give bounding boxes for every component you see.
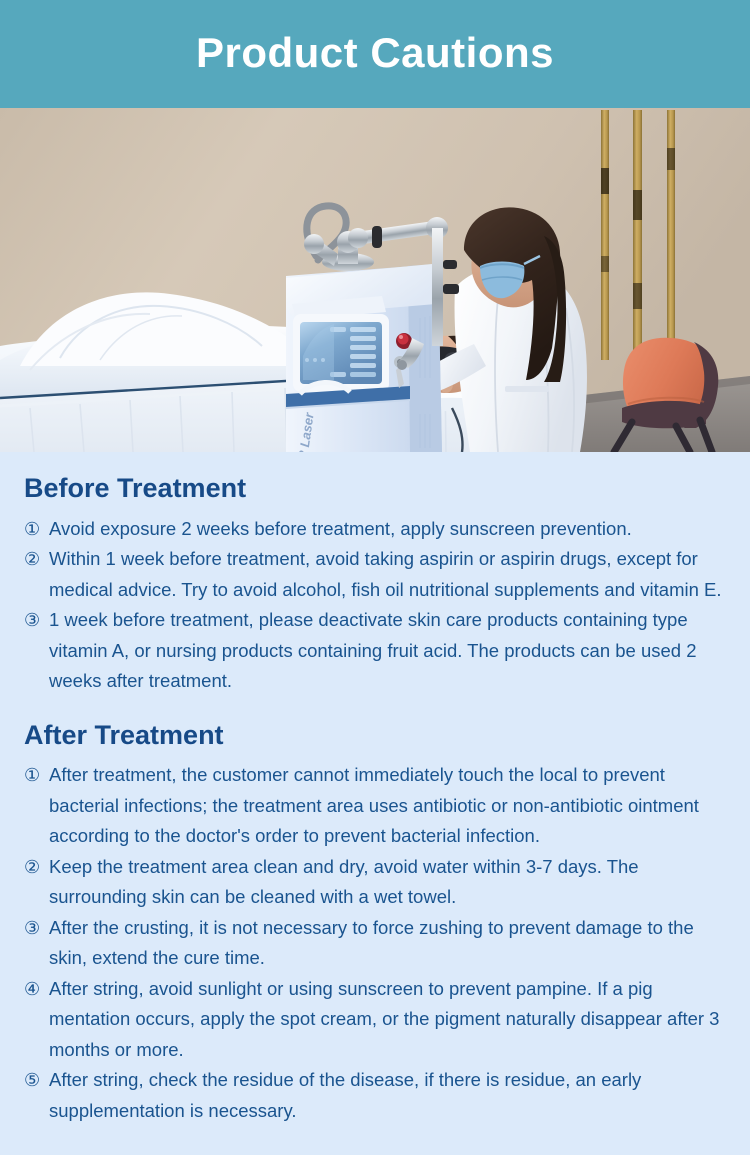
page-title: Product Cautions xyxy=(196,32,554,74)
list-item: ② Within 1 week before treatment, avoid … xyxy=(24,544,728,605)
co2-laser-machine: al Co2 Laser xyxy=(286,264,442,452)
item-text: After string, avoid sunlight or using su… xyxy=(49,974,728,1066)
list-item: ① Avoid exposure 2 weeks before treatmen… xyxy=(24,514,728,545)
list-item: ② Keep the treatment area clean and dry,… xyxy=(24,852,728,913)
list-item: ③ 1 week before treatment, please deacti… xyxy=(24,605,728,697)
treatment-photo-illustration: al Co2 Laser xyxy=(0,108,750,452)
item-text: Avoid exposure 2 weeks before treatment,… xyxy=(49,514,728,545)
item-text: After string, check the residue of the d… xyxy=(49,1065,728,1126)
page-header: Product Cautions xyxy=(0,0,750,108)
item-marker: ② xyxy=(24,852,40,883)
item-text: After treatment, the customer cannot imm… xyxy=(49,760,728,852)
before-treatment-list: ① Avoid exposure 2 weeks before treatmen… xyxy=(24,514,728,697)
list-item: ④ After string, avoid sunlight or using … xyxy=(24,974,728,1066)
item-text: After the crusting, it is not necessary … xyxy=(49,913,728,974)
product-cautions-page: Product Cautions xyxy=(0,0,750,1155)
section-heading-after: After Treatment xyxy=(24,721,728,751)
item-marker: ③ xyxy=(24,913,40,944)
item-marker: ① xyxy=(24,760,40,791)
item-marker: ③ xyxy=(24,605,40,636)
item-text: 1 week before treatment, please deactiva… xyxy=(49,605,728,697)
item-text: Keep the treatment area clean and dry, a… xyxy=(49,852,728,913)
section-heading-before: Before Treatment xyxy=(24,474,728,504)
list-item: ① After treatment, the customer cannot i… xyxy=(24,760,728,852)
treatment-photo: al Co2 Laser xyxy=(0,108,750,452)
item-marker: ⑤ xyxy=(24,1065,40,1096)
item-marker: ② xyxy=(24,544,40,575)
section-before-treatment: Before Treatment ① Avoid exposure 2 week… xyxy=(0,452,750,697)
cautions-content: Before Treatment ① Avoid exposure 2 week… xyxy=(0,452,750,1155)
list-item: ⑤ After string, check the residue of the… xyxy=(24,1065,728,1126)
list-item: ③ After the crusting, it is not necessar… xyxy=(24,913,728,974)
item-text: Within 1 week before treatment, avoid ta… xyxy=(49,544,728,605)
section-after-treatment: After Treatment ① After treatment, the c… xyxy=(0,697,750,1127)
item-marker: ④ xyxy=(24,974,40,1005)
item-marker: ① xyxy=(24,514,40,545)
after-treatment-list: ① After treatment, the customer cannot i… xyxy=(24,760,728,1126)
